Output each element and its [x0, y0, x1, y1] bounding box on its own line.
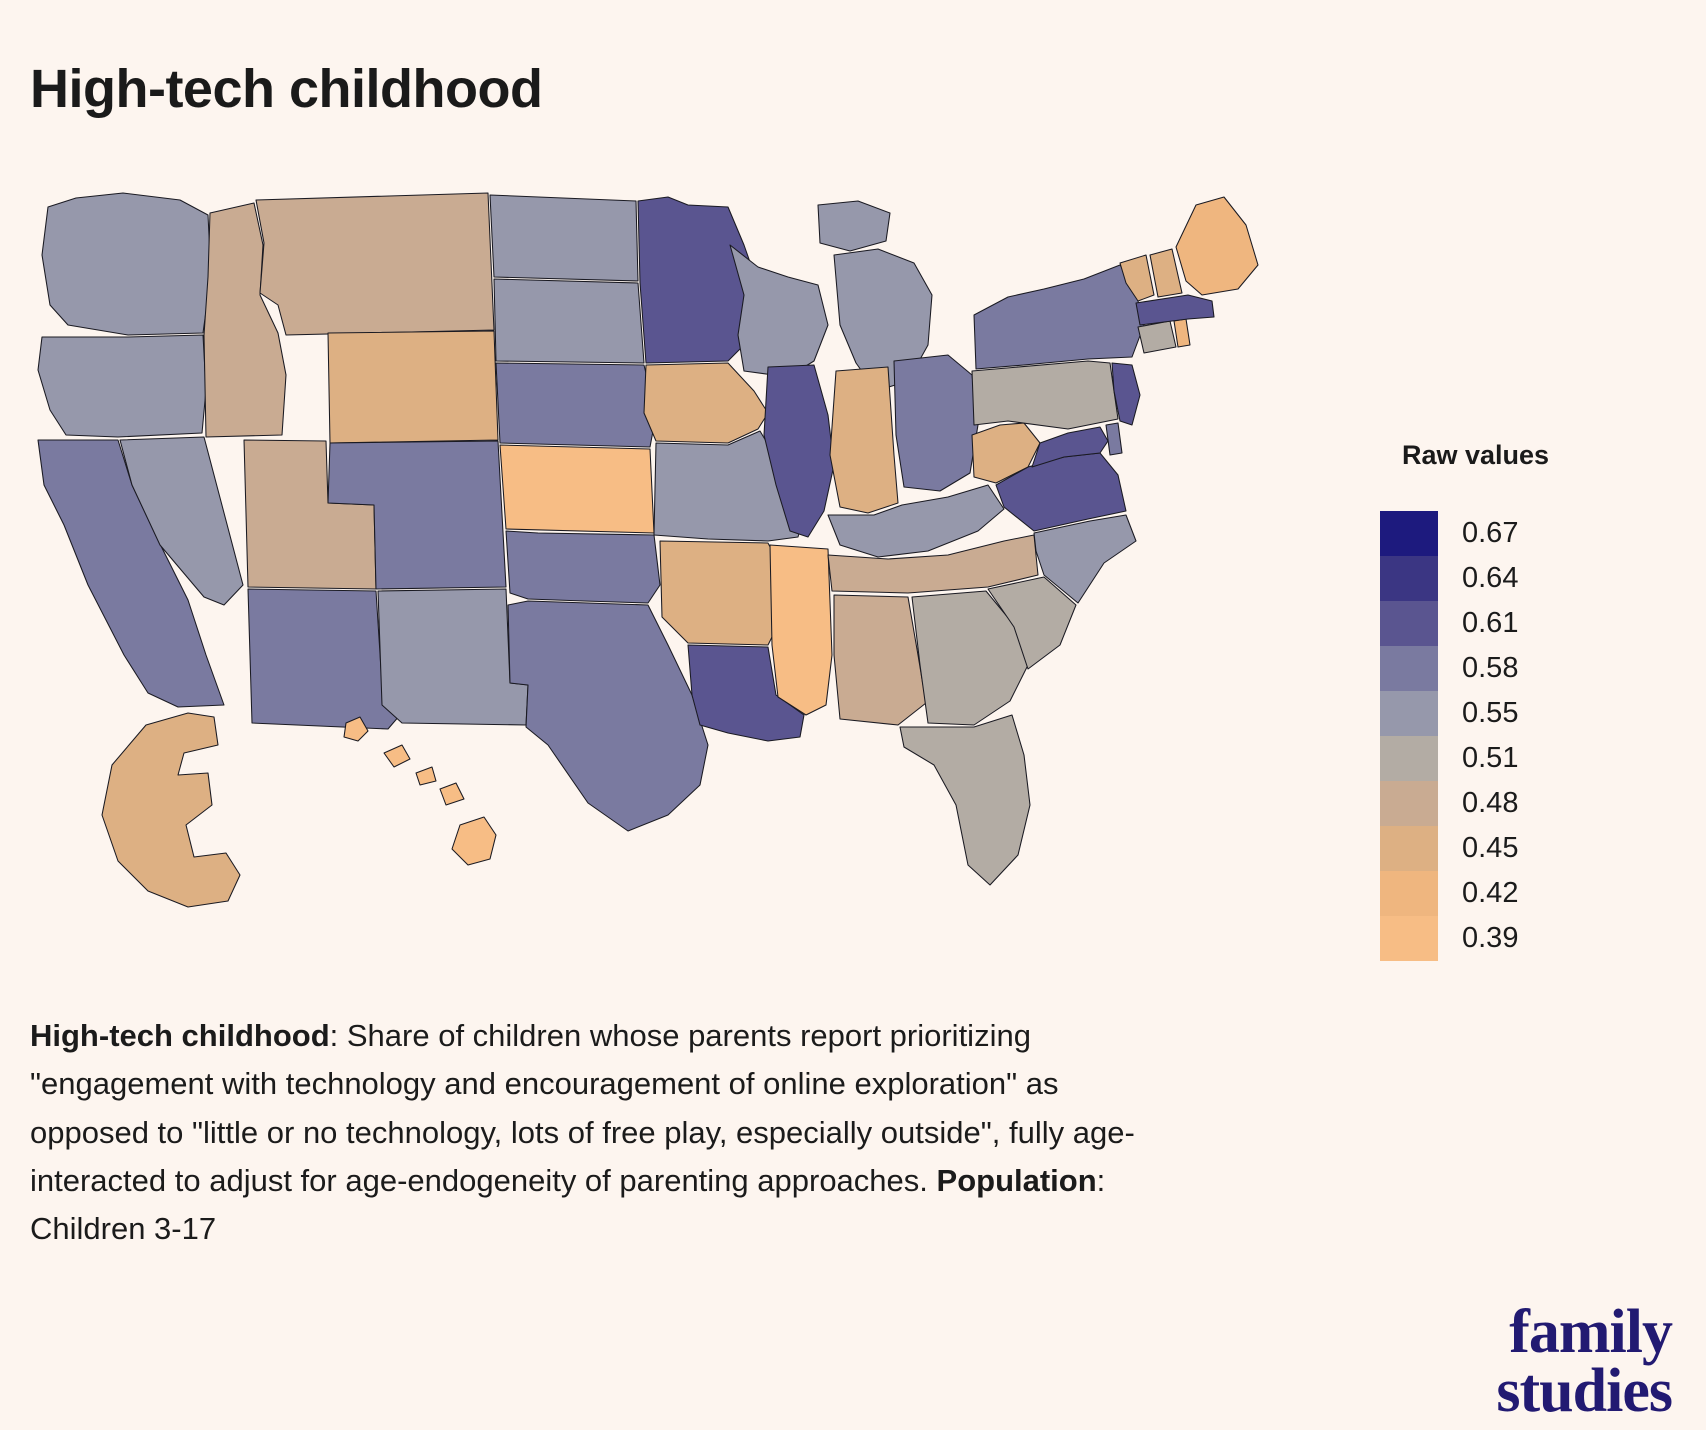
- state-NY[interactable]: [974, 265, 1144, 369]
- legend-label: 0.55: [1462, 691, 1518, 736]
- state-AL[interactable]: [834, 595, 926, 725]
- state-FL[interactable]: [900, 715, 1030, 885]
- state-NE[interactable]: [496, 363, 656, 447]
- caption: High-tech childhood: Share of children w…: [30, 1012, 1140, 1254]
- state-SD[interactable]: [494, 279, 644, 363]
- legend-label: 0.42: [1462, 871, 1518, 916]
- state-WA[interactable]: [42, 193, 211, 335]
- state-MA[interactable]: [1136, 295, 1214, 325]
- states-group: [38, 193, 1258, 907]
- state-AK[interactable]: [102, 713, 240, 907]
- state-MT[interactable]: [256, 193, 494, 335]
- legend-label: 0.61: [1462, 601, 1518, 646]
- legend-label-column: 0.670.640.610.580.550.510.480.450.420.39: [1462, 511, 1518, 961]
- state-NM[interactable]: [378, 589, 528, 725]
- legend-label: 0.58: [1462, 646, 1518, 691]
- state-ND[interactable]: [490, 195, 638, 281]
- state-KS[interactable]: [500, 445, 654, 533]
- state-AZ[interactable]: [248, 589, 400, 729]
- state-WI[interactable]: [730, 245, 828, 377]
- legend-swatch: [1380, 511, 1438, 556]
- legend-title: Raw values: [1402, 440, 1680, 471]
- legend-swatch: [1380, 826, 1438, 871]
- legend: Raw values 0.670.640.610.580.550.510.480…: [1380, 440, 1680, 961]
- family-studies-logo: family studies: [1496, 1303, 1672, 1422]
- legend-swatch: [1380, 646, 1438, 691]
- state-NH[interactable]: [1150, 249, 1182, 297]
- state-CT[interactable]: [1138, 321, 1176, 353]
- state-WY[interactable]: [328, 331, 498, 443]
- state-OR[interactable]: [38, 335, 206, 437]
- page-title: High-tech childhood: [30, 58, 542, 120]
- state-TX[interactable]: [508, 601, 708, 831]
- logo-line-family: family: [1496, 1303, 1672, 1363]
- legend-swatch: [1380, 691, 1438, 736]
- state-ME[interactable]: [1176, 197, 1258, 295]
- legend-label: 0.45: [1462, 826, 1518, 871]
- state-IN[interactable]: [830, 367, 898, 513]
- state-OH[interactable]: [894, 355, 978, 491]
- state-DE[interactable]: [1106, 423, 1122, 455]
- legend-label: 0.48: [1462, 781, 1518, 826]
- legend-label: 0.39: [1462, 916, 1518, 961]
- legend-swatch-column: [1380, 511, 1438, 961]
- state-OK[interactable]: [506, 531, 660, 603]
- state-IA[interactable]: [644, 363, 768, 443]
- caption-term: High-tech childhood: [30, 1018, 330, 1053]
- state-MS[interactable]: [770, 545, 832, 715]
- logo-line-studies: studies: [1496, 1362, 1672, 1422]
- choropleth-map: [28, 185, 1298, 945]
- legend-label: 0.51: [1462, 736, 1518, 781]
- state-RI[interactable]: [1174, 319, 1190, 347]
- caption-population-label: Population: [937, 1163, 1097, 1198]
- legend-swatch: [1380, 781, 1438, 826]
- legend-swatch: [1380, 601, 1438, 646]
- legend-swatch: [1380, 871, 1438, 916]
- legend-label: 0.67: [1462, 511, 1518, 556]
- state-HI[interactable]: [344, 717, 496, 865]
- legend-swatch: [1380, 916, 1438, 961]
- state-PA[interactable]: [972, 361, 1118, 429]
- legend-label: 0.64: [1462, 556, 1518, 601]
- us-map-svg: [28, 185, 1298, 945]
- legend-swatch: [1380, 736, 1438, 781]
- legend-swatch: [1380, 556, 1438, 601]
